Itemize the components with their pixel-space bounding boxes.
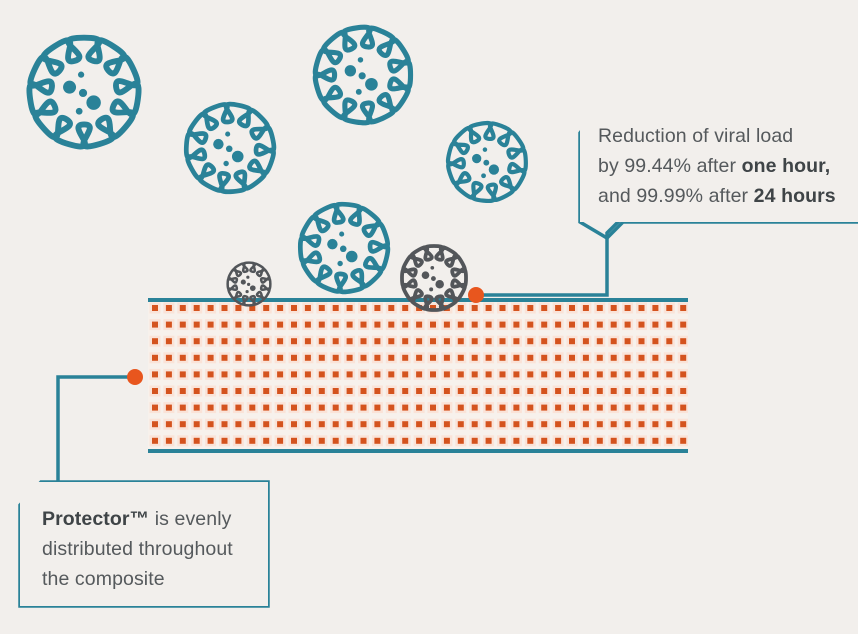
virus-particle — [315, 27, 410, 123]
virus-particle — [300, 204, 388, 292]
callout-top-line-2: by 99.44% after one hour, — [598, 151, 858, 181]
callout-bottom-line-2: distributed throughout — [42, 534, 268, 564]
virus-genome-dot — [223, 161, 228, 166]
callout-top-line-2-text: by 99.44% after — [598, 155, 742, 177]
viral-load-reduction-callout: Reduction of viral load by 99.44% after … — [580, 108, 858, 222]
callout-top-line-1: Reduction of viral load — [598, 121, 858, 151]
protector-distribution-callout: Protector™ is evenly distributed through… — [20, 482, 268, 606]
callout-bottom-line-1: Protector™ is evenly — [42, 504, 268, 534]
virus-genome-dot — [250, 285, 256, 291]
virus-genome-dot — [340, 245, 347, 252]
virus-genome-dot — [78, 72, 84, 78]
virus-genome-dot — [246, 276, 249, 279]
composite-layer — [148, 300, 689, 451]
virus-genome-dot — [327, 239, 337, 249]
virus-particle-group — [29, 27, 525, 310]
infographic-canvas: Reduction of viral load by 99.44% after … — [0, 0, 858, 634]
virus-genome-dot — [76, 108, 83, 115]
virus-genome-dot — [213, 139, 223, 149]
virus-particle — [29, 38, 138, 147]
virus-genome-dot — [429, 287, 433, 291]
virus-genome-dot — [247, 283, 250, 286]
virus-genome-dot — [359, 72, 366, 79]
virus-genome-dot — [431, 276, 436, 281]
virus-genome-dot — [435, 280, 444, 289]
virus-genome-dot — [356, 89, 362, 95]
virus-genome-dot — [337, 261, 342, 266]
virus-genome-dot — [481, 173, 486, 178]
surface-anchor-dot — [468, 287, 484, 303]
virus-genome-dot — [358, 57, 363, 62]
virus-genome-dot — [345, 65, 356, 76]
virus-genome-dot — [79, 89, 87, 97]
virus-genome-dot — [246, 290, 249, 293]
virus-particle — [448, 123, 526, 201]
virus-genome-dot — [483, 147, 487, 151]
virus-genome-dot — [241, 280, 246, 285]
virus-genome-dot — [339, 232, 344, 237]
composite-anchor-dot — [127, 369, 143, 385]
virus-genome-dot — [430, 266, 434, 270]
virus-genome-dot — [63, 81, 76, 94]
virus-particle — [186, 104, 274, 192]
callout-top-emphasis-one-hour: one hour, — [742, 155, 831, 177]
virus-genome-dot — [365, 78, 378, 91]
virus-genome-dot — [472, 154, 481, 163]
callout-bottom-line-1-text: is evenly — [149, 508, 231, 530]
callout-top-emphasis-24-hours: 24 hours — [754, 185, 836, 207]
virus-genome-dot — [226, 145, 233, 152]
virus-genome-dot — [483, 160, 489, 166]
virus-genome-dot — [232, 151, 244, 163]
leader-line-top — [482, 217, 623, 295]
virus-genome-dot — [225, 132, 230, 137]
protector-brand-name: Protector™ — [42, 508, 149, 530]
callout-top-line-3: and 99.99% after 24 hours — [598, 181, 858, 211]
callout-bottom-line-3: the composite — [42, 564, 268, 594]
virus-genome-dot — [489, 164, 499, 174]
virus-genome-dot — [86, 95, 100, 109]
callout-top-line-3-text: and 99.99% after — [598, 185, 754, 207]
virus-genome-dot — [422, 271, 430, 279]
virus-genome-dot — [346, 251, 358, 263]
